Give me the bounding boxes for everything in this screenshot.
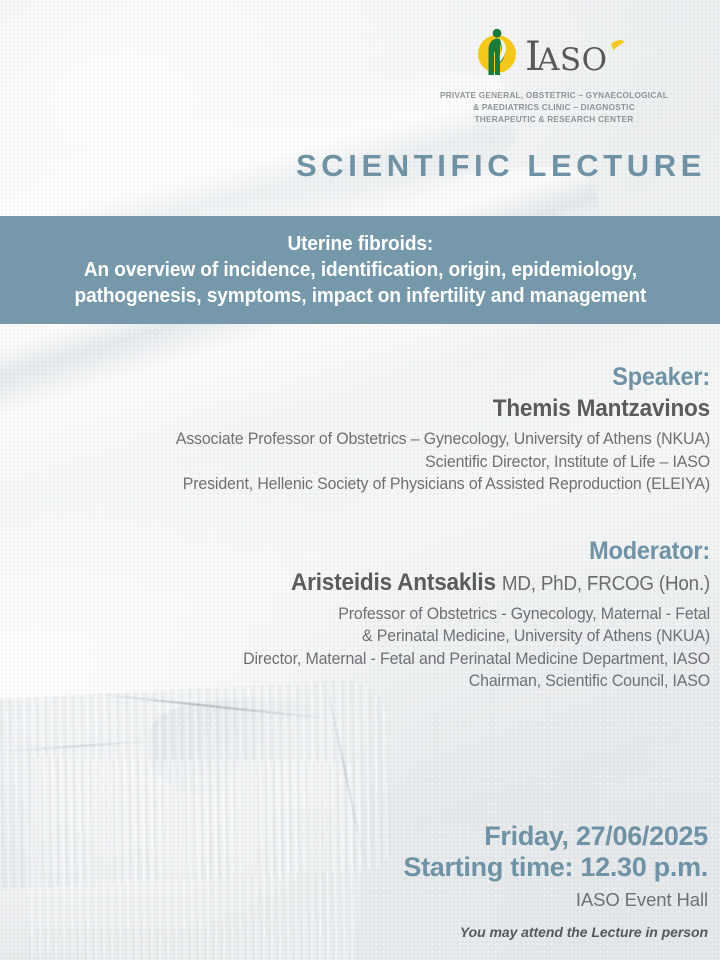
moderator-affiliation-line: & Perinatal Medicine, University of Athe…	[28, 625, 710, 648]
iaso-wordmark: I ASO	[525, 30, 633, 80]
attendance-note: You may attend the Lecture in person	[0, 922, 708, 942]
speaker-name: Themis Mantzavinos	[43, 394, 710, 424]
lecture-title-line3: pathogenesis, symptoms, impact on infert…	[74, 283, 646, 309]
moderator-affiliations: Professor of Obstetrics - Gynecology, Ma…	[28, 603, 710, 693]
section-spacer	[0, 496, 710, 536]
speaker-affiliation-line: President, Hellenic Society of Physician…	[28, 473, 710, 496]
moderator-affiliation-line: Professor of Obstetrics - Gynecology, Ma…	[28, 603, 710, 626]
speaker-role-label: Speaker:	[43, 362, 710, 392]
poster-content: I ASO PRIVATE GENERAL, OBSTETRIC – GYNAE…	[0, 0, 720, 960]
speaker-block: Speaker: Themis Mantzavinos Associate Pr…	[0, 362, 710, 496]
iaso-logo-block: I ASO PRIVATE GENERAL, OBSTETRIC – GYNAE…	[434, 28, 674, 126]
speaker-affiliations: Associate Professor of Obstetrics – Gyne…	[28, 428, 710, 496]
speaker-affiliation-line: Associate Professor of Obstetrics – Gyne…	[28, 428, 710, 451]
event-venue: IASO Event Hall	[0, 887, 708, 913]
svg-text:ASO: ASO	[536, 42, 608, 78]
event-date: Friday, 27/06/2025	[0, 821, 708, 852]
logo-row: I ASO	[434, 28, 674, 82]
lecture-title-lead: Uterine fibroids:	[287, 231, 433, 257]
lecture-title-banner: Uterine fibroids: An overview of inciden…	[0, 216, 720, 324]
brand-tagline: PRIVATE GENERAL, OBSTETRIC – GYNAECOLOGI…	[434, 89, 674, 126]
lecture-poster: I ASO PRIVATE GENERAL, OBSTETRIC – GYNAE…	[0, 0, 720, 960]
moderator-block: Moderator: Aristeidis Antsaklis MD, PhD,…	[0, 536, 710, 693]
speaker-affiliation-line: Scientific Director, Institute of Life –…	[28, 451, 710, 474]
lecture-title-line2: An overview of incidence, identification…	[83, 257, 636, 283]
moderator-affiliation-line: Chairman, Scientific Council, IASO	[28, 670, 710, 693]
event-details: Friday, 27/06/2025 Starting time: 12.30 …	[0, 821, 708, 942]
iaso-figure-logo-icon	[475, 28, 519, 82]
moderator-affiliation-line: Director, Maternal - Fetal and Perinatal…	[28, 648, 710, 671]
page-title-kicker: SCIENTIFIC LECTURE	[0, 148, 706, 184]
moderator-name: Aristeidis Antsaklis	[291, 569, 496, 596]
people-section: Speaker: Themis Mantzavinos Associate Pr…	[0, 362, 710, 693]
moderator-name-row: Aristeidis Antsaklis MD, PhD, FRCOG (Hon…	[43, 568, 710, 599]
moderator-role-label: Moderator:	[43, 536, 710, 566]
moderator-credentials: MD, PhD, FRCOG (Hon.)	[502, 573, 710, 595]
event-time: Starting time: 12.30 p.m.	[0, 852, 708, 883]
